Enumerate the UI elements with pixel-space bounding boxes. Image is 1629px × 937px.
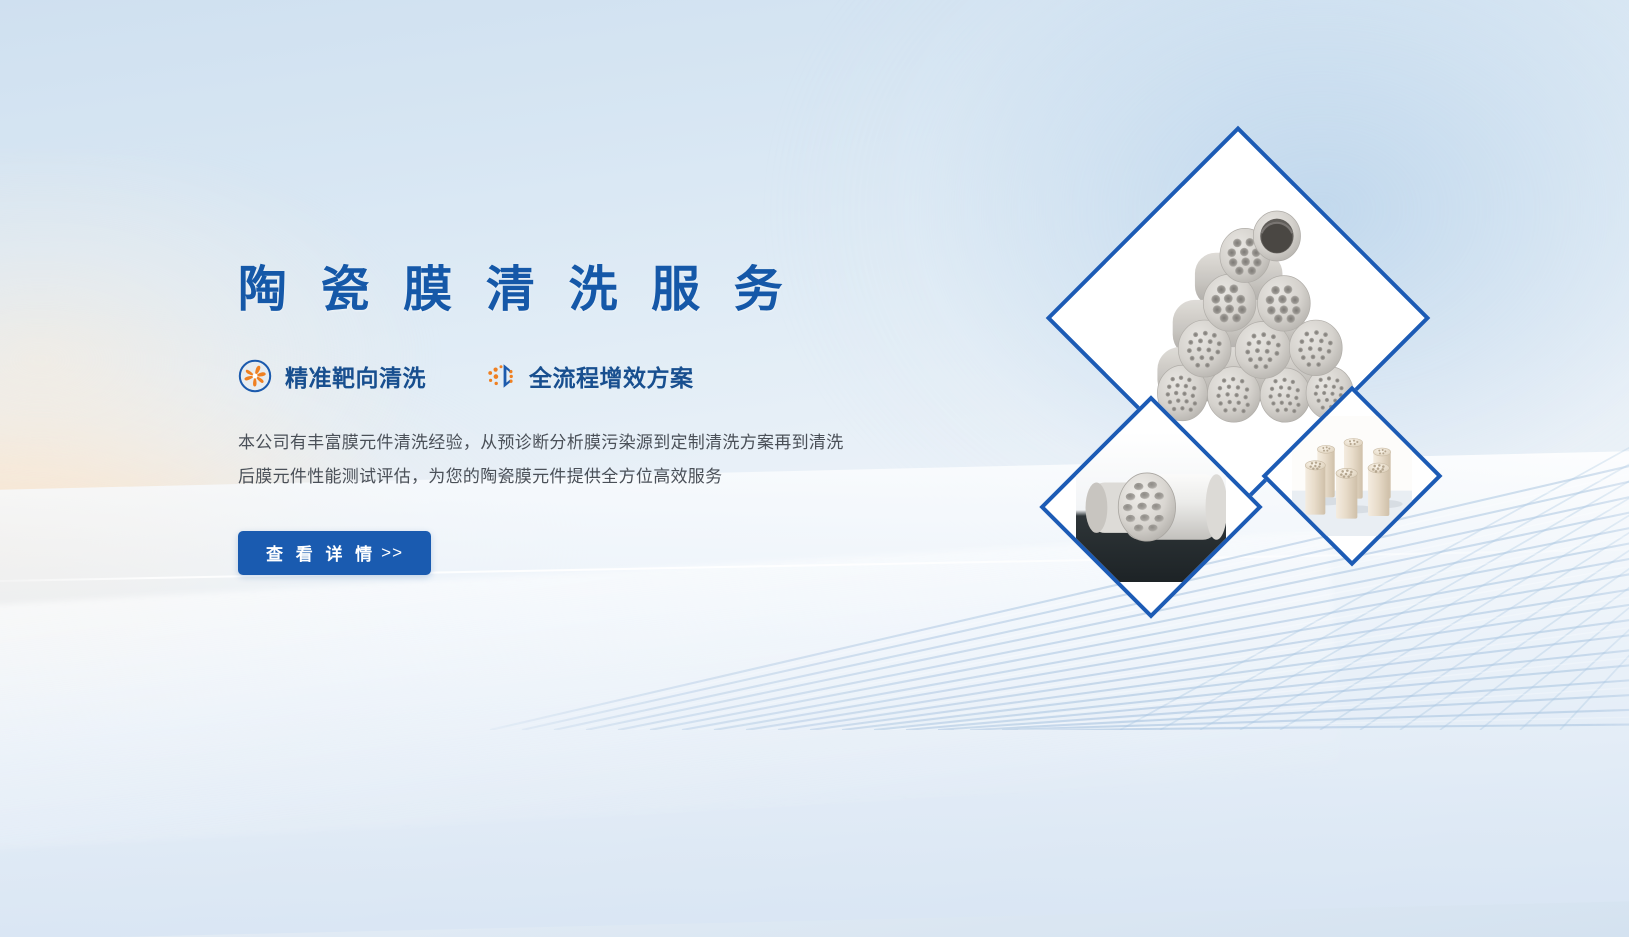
product-image-collage	[1030, 160, 1450, 660]
description-line-2: 后膜元件性能测试评估，为您的陶瓷膜元件提供全方位高效服务	[238, 460, 918, 494]
feature-item-targeted-cleaning: 精准靶向清洗	[238, 359, 426, 393]
description-line-1: 本公司有丰富膜元件清洗经验，从预诊断分析膜污染源到定制清洗方案再到清洗	[238, 426, 918, 460]
feature-list: 精准靶向清洗	[238, 359, 938, 393]
hero-description: 本公司有丰富膜元件清洗经验，从预诊断分析膜污染源到定制清洗方案再到清洗 后膜元件…	[238, 426, 918, 494]
view-details-label: 查 看 详 情	[266, 540, 376, 565]
page-title: 陶 瓷 膜 清 洗 服 务	[238, 262, 938, 320]
double-chevron-right-icon: >>	[381, 543, 403, 563]
feature-item-full-process: 全流程增效方案	[486, 359, 694, 393]
image-ceramic-membrane-elements-upright-content	[1292, 416, 1412, 536]
flow-dots-icon	[486, 361, 516, 391]
hero-content: 陶 瓷 膜 清 洗 服 务	[238, 262, 938, 575]
feature-label-targeted-cleaning: 精准靶向清洗	[285, 359, 426, 393]
view-details-button[interactable]: 查 看 详 情 >>	[238, 531, 431, 575]
feature-label-full-process: 全流程增效方案	[529, 359, 694, 393]
image-ceramic-membrane-tube-closeup-content	[1076, 432, 1226, 582]
pinwheel-icon	[238, 359, 272, 393]
hero-banner: 陶 瓷 膜 清 洗 服 务	[0, 0, 1629, 937]
